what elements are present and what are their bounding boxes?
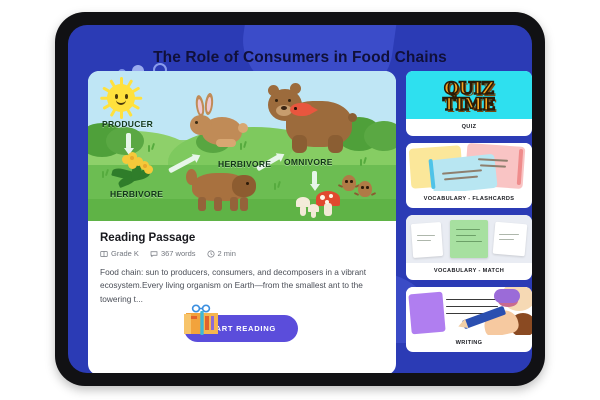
meta-words: 367 words — [150, 249, 196, 258]
reading-card-body: Reading Passage Grade K — [88, 221, 396, 306]
meta-words-label: 367 words — [161, 249, 196, 258]
quiz-thumbnail: QUIZ TIME — [406, 71, 532, 119]
passage-excerpt: Food chain: sun to producers, consumers,… — [100, 266, 384, 306]
activity-label-flashcards: VOCABULARY - FLASHCARDS — [406, 191, 532, 208]
activity-card-quiz[interactable]: QUIZ TIME QUIZ — [406, 71, 532, 136]
activity-label-quiz: QUIZ — [406, 119, 532, 136]
meta-grade-label: Grade K — [111, 249, 139, 258]
match-thumbnail — [406, 215, 532, 263]
bush-shape — [364, 121, 396, 151]
bear-omnivore — [266, 81, 356, 161]
speech-bubble-icon — [150, 250, 158, 258]
start-reading-button[interactable]: START READING — [184, 315, 298, 342]
activity-card-writing[interactable]: WRITING — [406, 287, 532, 352]
passage-meta: Grade K 367 words — [100, 249, 384, 258]
book-open-icon — [100, 250, 108, 258]
activity-card-flashcards[interactable]: VOCABULARY - FLASHCARDS — [406, 143, 532, 208]
illustration-label-producer: PRODUCER — [102, 119, 153, 129]
tablet-frame: The Role of Consumers in Food Chains — [55, 12, 545, 386]
reading-passage-card[interactable]: PRODUCER HERBIVORE OMNIVORE HERBIVORE Re… — [88, 71, 396, 373]
illustration-label-omnivore: OMNIVORE — [284, 157, 333, 167]
sun-icon — [100, 77, 142, 119]
activity-label-match: VOCABULARY - MATCH — [406, 263, 532, 280]
food-chain-illustration: PRODUCER HERBIVORE OMNIVORE HERBIVORE — [88, 71, 396, 221]
illustration-label-herbivore: HERBIVORE — [110, 189, 163, 199]
page-title: The Role of Consumers in Food Chains — [68, 49, 532, 67]
activity-label-writing: WRITING — [406, 335, 532, 352]
activity-card-match[interactable]: VOCABULARY - MATCH — [406, 215, 532, 280]
writing-thumbnail — [406, 287, 532, 335]
passage-title: Reading Passage — [100, 232, 384, 244]
bison-herbivore — [184, 163, 260, 213]
fish-icon — [290, 103, 318, 117]
quiz-thumb-line2: TIME — [443, 98, 495, 114]
meta-duration: 2 min — [207, 249, 236, 258]
clock-icon — [207, 250, 215, 258]
producer-plant — [110, 149, 154, 189]
flashcards-thumbnail — [406, 143, 532, 191]
activity-sidebar: QUIZ TIME QUIZ VOCAB — [406, 71, 532, 352]
illustration-label-herbivore: HERBIVORE — [218, 159, 271, 169]
meta-grade: Grade K — [100, 249, 139, 258]
meta-duration-label: 2 min — [218, 249, 236, 258]
tablet-screen: The Role of Consumers in Food Chains — [68, 25, 532, 373]
